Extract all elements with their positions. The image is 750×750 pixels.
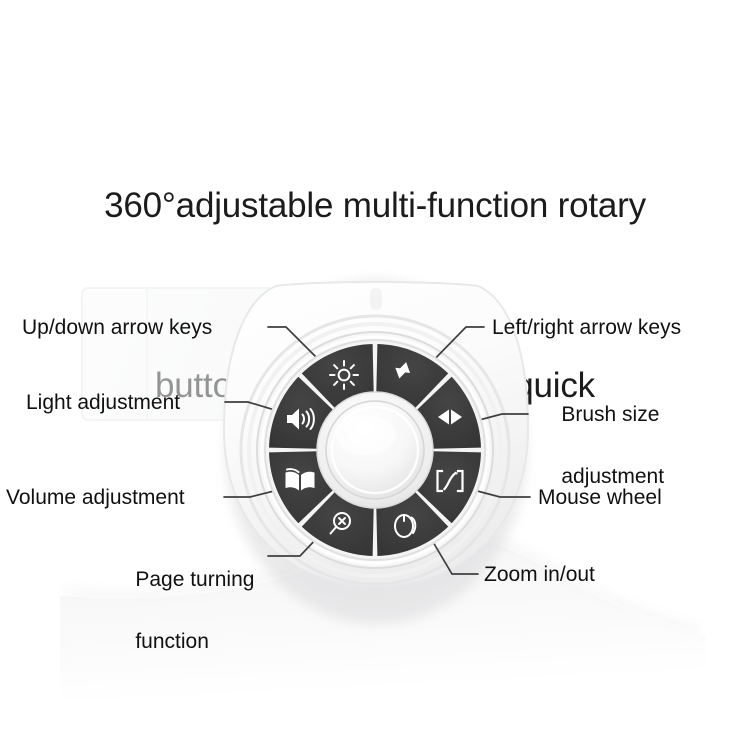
- label-left-right-arrow-keys: Left/right arrow keys: [492, 312, 681, 343]
- label-brush-line-1: Brush size: [561, 403, 659, 426]
- label-page-turning-line-2: function: [135, 630, 209, 653]
- label-page-turning-function: Page turning function: [112, 533, 254, 688]
- rotary-dial[interactable]: [264, 339, 486, 561]
- label-volume-adjustment: Volume adjustment: [6, 482, 185, 513]
- infographic-canvas: 360°adjustable multi-function rotary but…: [0, 0, 750, 750]
- label-mouse-wheel: Mouse wheel: [538, 482, 662, 513]
- label-light-adjustment: Light adjustment: [26, 387, 180, 418]
- label-page-turning-line-1: Page turning: [135, 568, 254, 591]
- label-zoom-in-out: Zoom in/out: [484, 559, 595, 590]
- label-up-down-arrow-keys: Up/down arrow keys: [22, 312, 212, 343]
